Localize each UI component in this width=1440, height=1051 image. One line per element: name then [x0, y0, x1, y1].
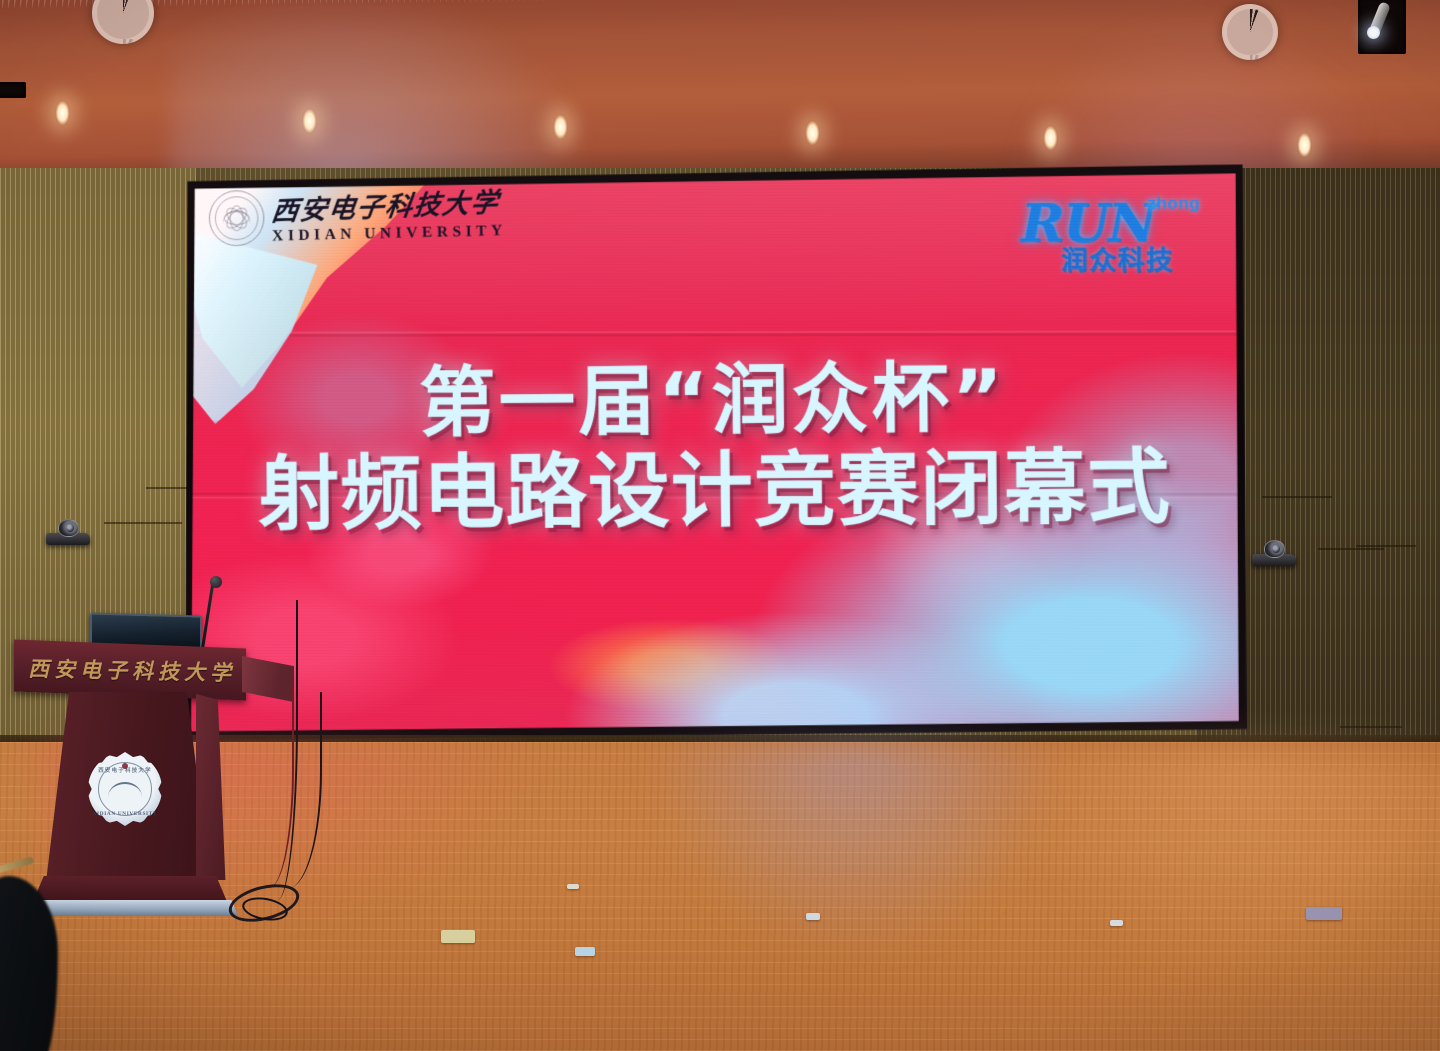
ceiling-vent-icon: [1222, 4, 1278, 60]
auditorium-stage-scene: 西安电子科技大学 XIDIAN UNIVERSITY RUN zhong 润众科…: [0, 0, 1440, 1051]
xidian-logo-text: 西安电子科技大学 XIDIAN UNIVERSITY: [272, 194, 507, 242]
floor-object: [441, 930, 475, 943]
floor-object: [1306, 907, 1342, 920]
wall-panel-seam: [1340, 726, 1402, 728]
event-title-block: 第一届“润众杯” 射频电路设计竞赛闭幕式: [191, 358, 1239, 537]
wall-panel-seam: [1262, 496, 1332, 498]
gooseneck-microphone-icon: [210, 576, 222, 588]
xidian-english-name: XIDIAN UNIVERSITY: [272, 223, 507, 244]
xidian-seal-icon: [209, 190, 264, 246]
wall-panel-seam: [1318, 548, 1384, 550]
wall-panel-seam: [104, 522, 182, 524]
ceiling-light-slot: [0, 82, 26, 98]
ptz-camera-left: [46, 519, 90, 545]
floor-object: [575, 947, 595, 956]
ceiling-downlight-icon: [553, 114, 568, 140]
wall-panel-seam: [1356, 545, 1416, 547]
podium-column-side: [196, 694, 238, 880]
back-wall-right-panel: [1240, 168, 1440, 788]
led-display-wall[interactable]: 西安电子科技大学 XIDIAN UNIVERSITY RUN zhong 润众科…: [183, 164, 1247, 743]
podium-university-name: 西安电子科技大学: [28, 653, 236, 687]
camera-lens-icon: [66, 524, 74, 532]
ceiling-screen-glow: [170, 0, 590, 190]
ceiling-downlight-icon: [1297, 132, 1312, 158]
runzhong-chinese-name: 润众科技: [1037, 248, 1198, 274]
ceiling-light-slot: [1358, 0, 1406, 54]
podium-plinth: [32, 876, 228, 904]
ceiling-downlight-icon: [805, 120, 820, 146]
ceiling-downlight-icon: [302, 108, 317, 134]
podium-base-trim: [20, 900, 238, 916]
xidian-university-logo: 西安电子科技大学 XIDIAN UNIVERSITY: [209, 190, 507, 247]
event-title-line2: 射频电路设计竞赛闭幕式: [191, 445, 1239, 537]
ceiling-downlight-icon: [55, 100, 70, 126]
xidian-chinese-name: 西安电子科技大学: [270, 189, 509, 226]
ptz-camera-right: [1252, 540, 1296, 566]
floor-object: [567, 884, 579, 889]
led-screen-surface[interactable]: 西安电子科技大学 XIDIAN UNIVERSITY RUN zhong 润众科…: [191, 173, 1239, 734]
runzhong-sponsor-logo: RUN zhong 润众科技: [1021, 192, 1204, 281]
ceiling-downlight-icon: [1043, 125, 1058, 151]
floor-object: [806, 913, 820, 920]
floor-object: [1110, 920, 1123, 926]
event-title-line1: 第一届“润众杯”: [191, 358, 1239, 446]
runzhong-superscript: zhong: [1147, 194, 1200, 214]
speaker-podium: 西安电子科技大学 西安电子科技大学 XIDIAN UNIVERSITY: [14, 614, 282, 944]
spotlight-lamp-icon: [1367, 26, 1380, 39]
xidian-emblem-icon: 西安电子科技大学 XIDIAN UNIVERSITY: [88, 752, 162, 826]
camera-lens-icon: [1272, 545, 1280, 553]
led-panel-seam: [191, 333, 1239, 336]
emblem-chinese-text: 西安电子科技大学: [88, 766, 162, 774]
floor-reflection-warm: [1000, 742, 1440, 972]
emblem-english-text: XIDIAN UNIVERSITY: [88, 811, 162, 817]
